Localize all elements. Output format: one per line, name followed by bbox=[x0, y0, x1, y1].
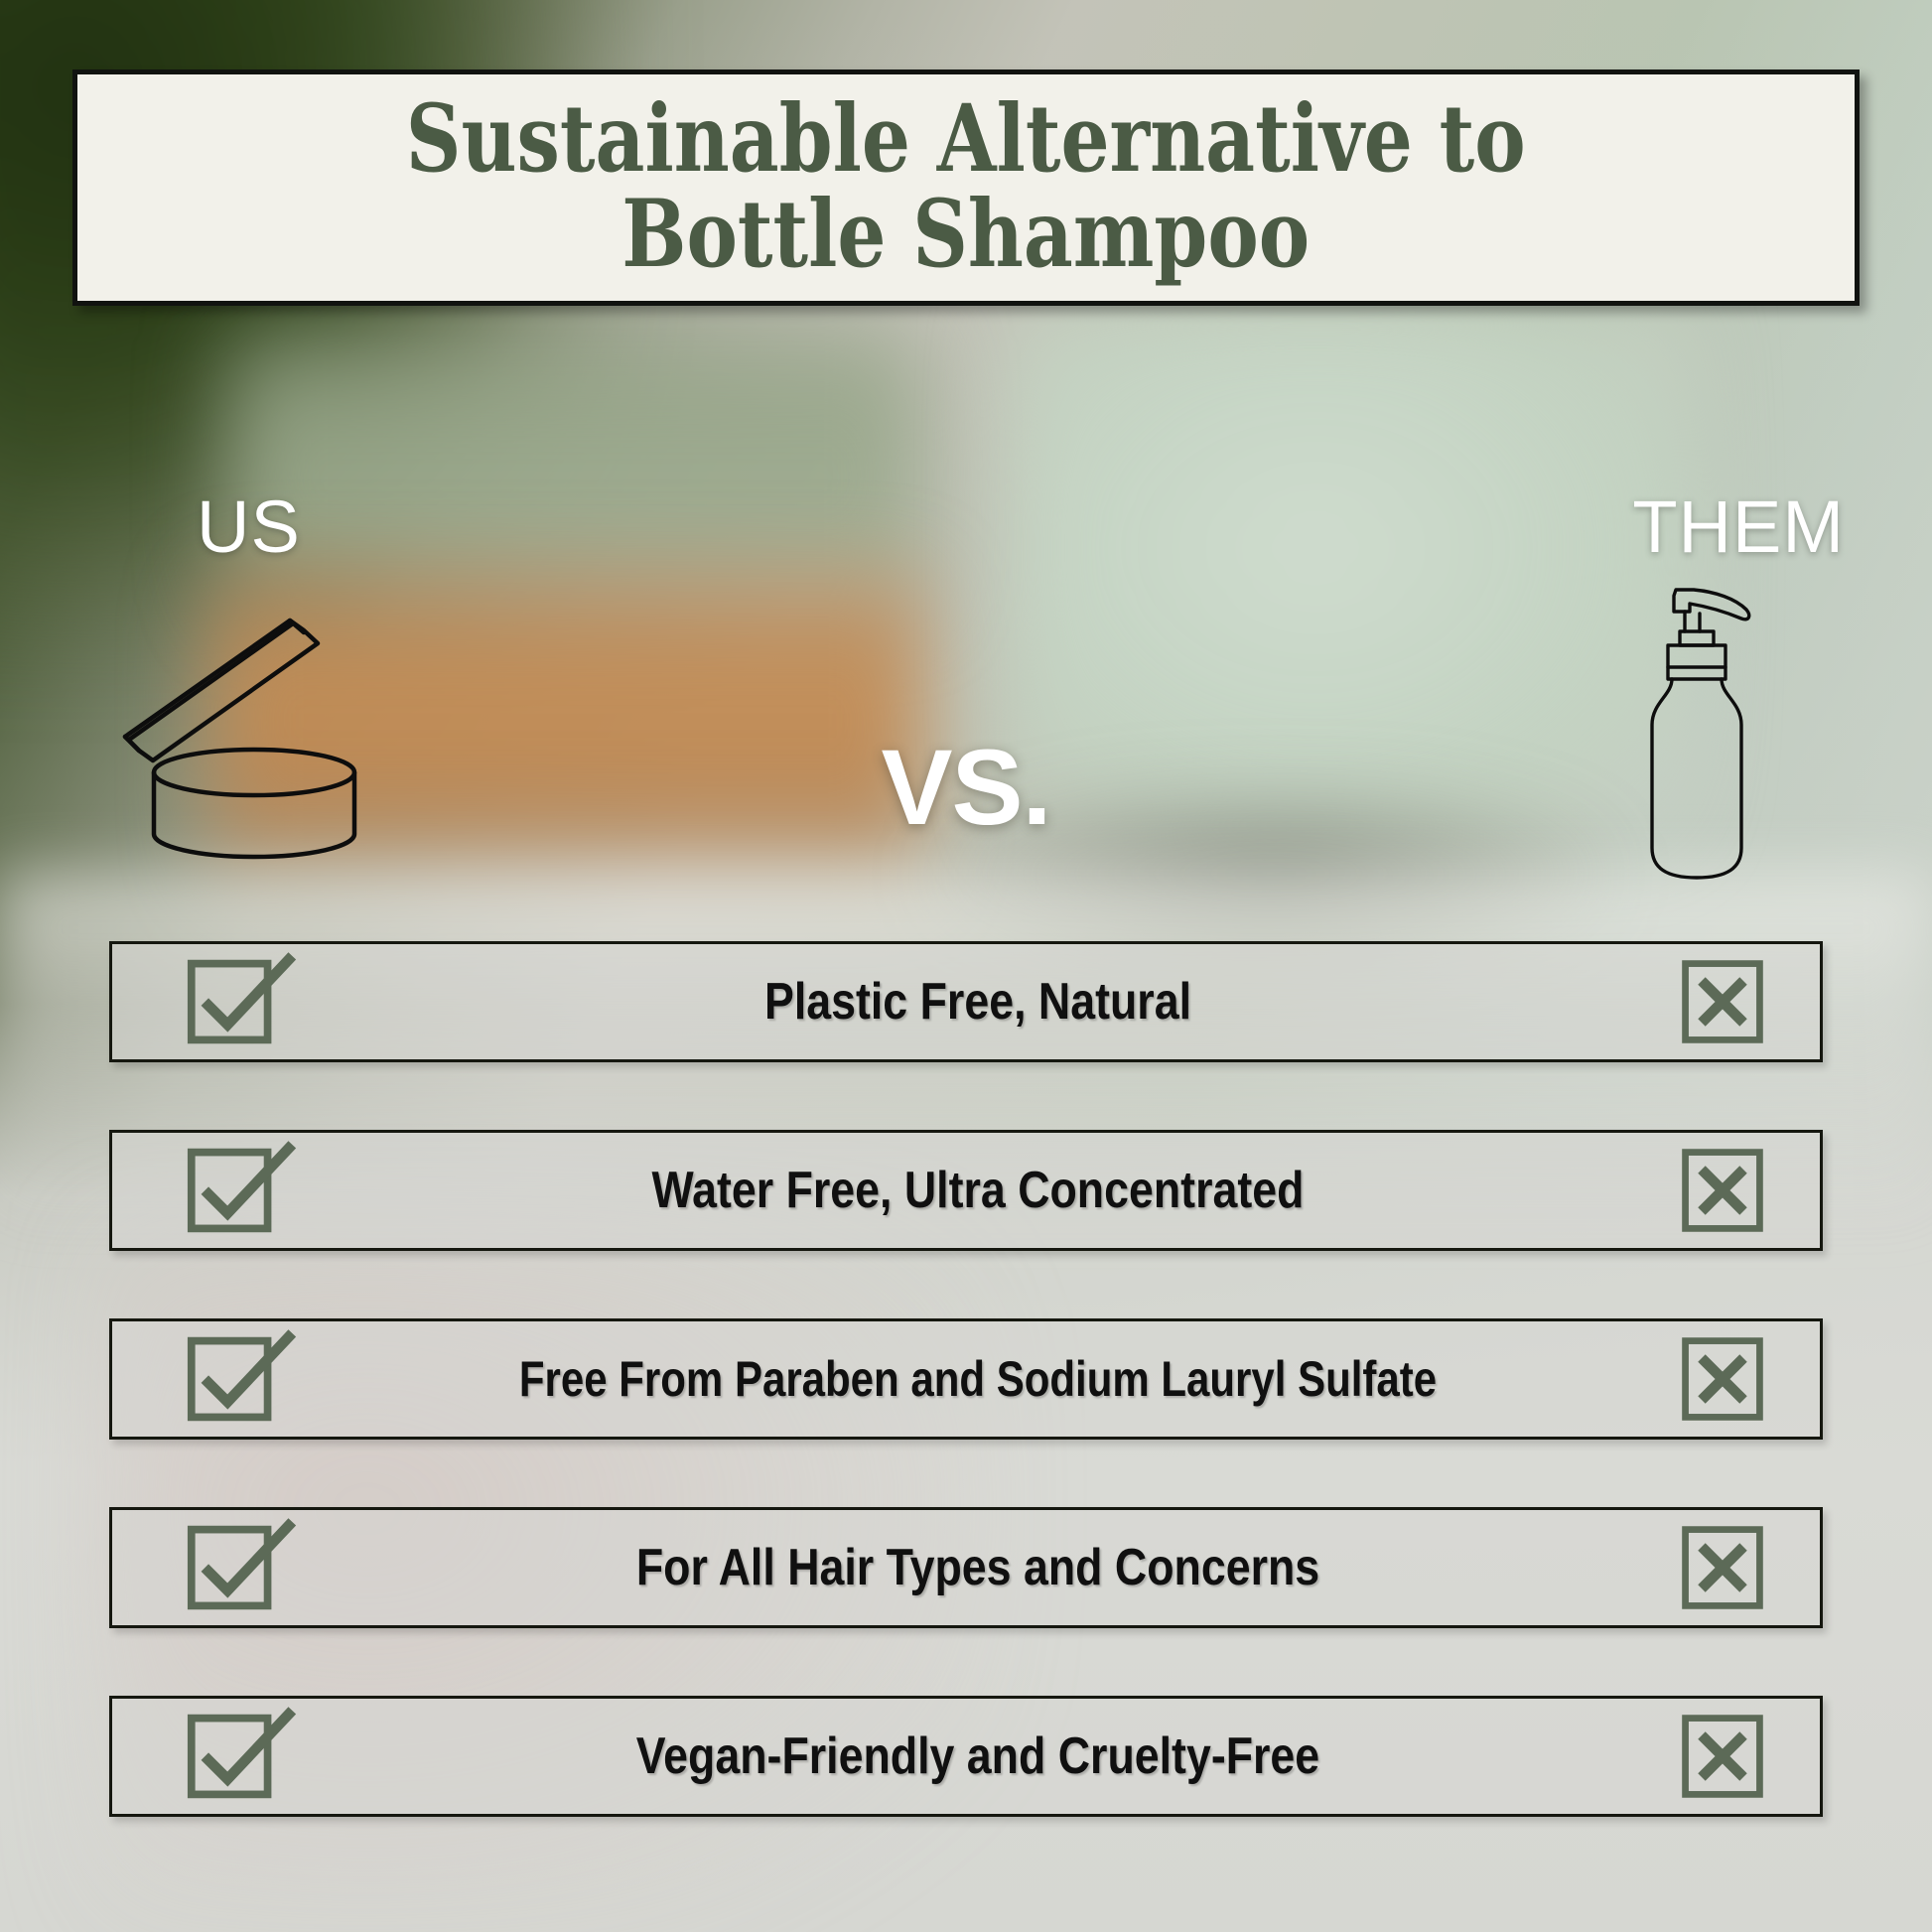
check-icon bbox=[186, 1709, 281, 1804]
comparison-infographic: Sustainable Alternative to Bottle Shampo… bbox=[0, 0, 1932, 1932]
table-row[interactable]: For All Hair Types and Concerns bbox=[109, 1507, 1823, 1628]
comparison-rows: Plastic Free, Natural Water Free, Ultra … bbox=[109, 941, 1823, 1817]
cross-icon bbox=[1675, 1143, 1770, 1238]
row-label: For All Hair Types and Concerns bbox=[378, 1538, 1577, 1597]
cross-icon bbox=[1675, 1520, 1770, 1615]
table-row[interactable]: Free From Paraben and Sodium Lauryl Sulf… bbox=[109, 1318, 1823, 1440]
row-label: Vegan-Friendly and Cruelty-Free bbox=[378, 1726, 1577, 1786]
versus-label: VS. bbox=[0, 725, 1932, 849]
check-icon bbox=[186, 1143, 281, 1238]
table-row[interactable]: Plastic Free, Natural bbox=[109, 941, 1823, 1062]
cross-icon bbox=[1675, 1331, 1770, 1427]
label-us: US bbox=[197, 484, 301, 569]
cross-icon bbox=[1675, 954, 1770, 1049]
check-icon bbox=[186, 1520, 281, 1615]
label-them: THEM bbox=[1632, 484, 1845, 569]
row-label: Free From Paraben and Sodium Lauryl Sulf… bbox=[392, 1350, 1563, 1408]
cross-icon bbox=[1675, 1709, 1770, 1804]
row-label: Plastic Free, Natural bbox=[378, 972, 1577, 1032]
table-row[interactable]: Vegan-Friendly and Cruelty-Free bbox=[109, 1696, 1823, 1817]
check-icon bbox=[186, 1331, 281, 1427]
check-icon bbox=[186, 954, 281, 1049]
table-row[interactable]: Water Free, Ultra Concentrated bbox=[109, 1130, 1823, 1251]
page-title: Sustainable Alternative to Bottle Shampo… bbox=[386, 92, 1545, 283]
row-label: Water Free, Ultra Concentrated bbox=[378, 1161, 1577, 1220]
title-banner: Sustainable Alternative to Bottle Shampo… bbox=[72, 69, 1860, 306]
